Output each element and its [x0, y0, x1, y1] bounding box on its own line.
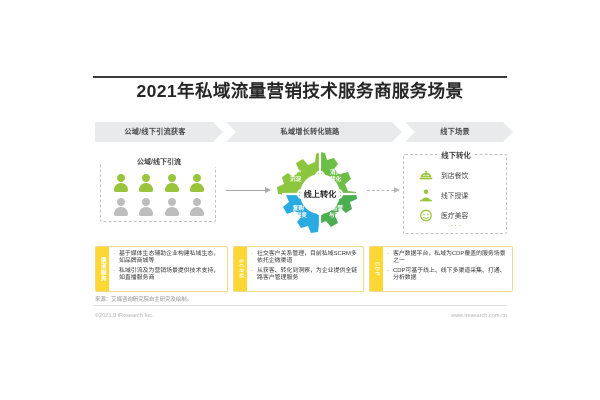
footer-divider: [93, 305, 507, 306]
person-icon: [190, 174, 205, 194]
list-item: · 客户数据平台，私域为CDP覆盖的服务场景之一: [387, 251, 509, 266]
list-item: · 从获客、转化到洞察，为企业提供全链路客户管理服务: [251, 268, 360, 283]
gear-q1-line1: 用户: [290, 170, 301, 176]
stage-header-1-label: 公域/线下引流获客: [124, 127, 193, 137]
people-grid: [108, 174, 210, 218]
list-item-label: 客户数据平台，私域为CDP覆盖的服务场景之一: [393, 251, 509, 266]
list-item: 线下授课: [418, 186, 500, 204]
source-note: 来源：艾媒咨询研究院自主研究及绘制。: [95, 295, 192, 303]
person-icon: [139, 198, 154, 218]
stage-header-1: 公域/线下引流获客: [95, 122, 223, 142]
arrow-right-icon: [226, 190, 270, 191]
title-divider: [93, 76, 507, 78]
gear-center-label: 线上转化: [304, 188, 337, 200]
gear-q1-line2: 沉淀: [290, 177, 301, 183]
gear-q3-line2: 与裂变: [290, 213, 307, 219]
stage-header-band: 公域/线下引流获客 私域增长转化链路 线下场景: [95, 122, 513, 142]
capability-block-cdp: CDP · 客户数据平台，私域为CDP覆盖的服务场景之一 · CDP可基于线上、…: [369, 246, 513, 292]
person-icon: [164, 174, 179, 194]
person-icon: [113, 174, 128, 194]
stage-header-3-label: 线下场景: [440, 127, 478, 137]
person-icon: [164, 198, 179, 218]
capability-body: · 客户数据平台，私域为CDP覆盖的服务场景之一 · CDP可基于线上、线下多渠…: [383, 247, 512, 291]
person-icon: [113, 198, 128, 218]
list-item-label: CDP可基于线上、线下多渠道采集、打通、分析数据: [393, 268, 509, 283]
main-diagram-band: 公域/线下引流: [95, 150, 513, 238]
gear-quadrant-label-bottom-right: 运营 与洞察: [329, 206, 346, 220]
list-item-label: 基于媒体生态辅助企业构建私域生态，如品牌商城等: [119, 251, 224, 266]
list-item: · 社交客户关系管理，目前私域SCRM多依托企微渠道: [251, 251, 360, 266]
list-item-label: 私域引流及为营销场景提供技术支持，如直播服务商: [119, 268, 224, 283]
offline-more-indicator: ···: [404, 221, 508, 230]
gear-q4-line2: 与洞察: [329, 213, 346, 219]
acquisition-title-label: 公域/线下引流: [133, 159, 185, 166]
list-item-label: 社交客户关系管理，目前私域SCRM多依托企微渠道: [257, 251, 360, 266]
capability-body: · 社交客户关系管理，目前私域SCRM多依托企微渠道 · 从获客、转化到洞察，为…: [247, 247, 363, 291]
list-item: · 基于媒体生态辅助企业构建私域生态，如品牌商城等: [113, 251, 224, 266]
list-item: 到店餐饮: [418, 166, 500, 184]
page-title: 2021年私域流量营销技术服务商服务场景: [93, 80, 507, 102]
restaurant-icon: [418, 168, 434, 183]
capability-block-scrm: SCRM · 社交客户关系管理，目前私域SCRM多依托企微渠道 · 从获客、转化…: [233, 246, 364, 292]
acquisition-title: 公域/线下引流: [101, 157, 217, 167]
gear-quadrant-label-bottom-left: 复购 与裂变: [290, 206, 307, 220]
person-icon: [139, 174, 154, 194]
capability-tab-label: SCRM: [234, 247, 247, 291]
offline-conversion-title-label: 线下转化: [437, 151, 475, 160]
stage-header-3: 线下场景: [405, 122, 513, 142]
capability-block-channel: 渠道服务 · 基于媒体生态辅助企业构建私域生态，如品牌商城等 · 私域引流及为营…: [95, 246, 228, 292]
list-item-label: 线下授课: [441, 190, 468, 200]
gear-q3-line1: 复购: [293, 206, 304, 212]
gear-quadrant-label-top-right: 消费 转化: [330, 170, 341, 184]
gear-quadrant-label-top-left: 用户 沉淀: [290, 170, 301, 184]
stage-header-2: 私域增长转化链路: [226, 122, 402, 142]
offline-conversion-box: 线下转化 到店餐饮: [403, 154, 507, 234]
capability-body: · 基于媒体生态辅助企业构建私域生态，如品牌商城等 · 私域引流及为营销场景提供…: [109, 247, 227, 291]
capability-tab-label: CDP: [370, 247, 383, 291]
offline-item-list: 到店餐饮 线下授课: [418, 166, 500, 226]
stage-header-2-label: 私域增长转化链路: [280, 127, 347, 137]
capability-blocks: 渠道服务 · 基于媒体生态辅助企业构建私域生态，如品牌商城等 · 私域引流及为营…: [95, 246, 513, 292]
gear-q2-line2: 转化: [330, 177, 341, 183]
teaching-icon: [418, 188, 434, 203]
acquisition-box: 公域/线下引流: [100, 162, 216, 222]
offline-conversion-title: 线下转化: [404, 150, 508, 161]
copyright-text: ©2021.9 iResearch Inc.: [95, 313, 154, 319]
capability-tab-label: 渠道服务: [96, 247, 109, 291]
list-item-label: 到店餐饮: [441, 170, 468, 180]
list-item-label: 从获客、转化到洞察，为企业提供全链路客户管理服务: [257, 268, 360, 283]
list-item-label: 医疗美容: [441, 210, 468, 220]
gear-q4-line1: 运营: [332, 206, 343, 212]
arrow-right-dashed-icon: [367, 190, 399, 192]
person-icon: [190, 198, 205, 218]
list-item: · 私域引流及为营销场景提供技术支持，如直播服务商: [113, 268, 224, 283]
list-item: · CDP可基于线上、线下多渠道采集、打通、分析数据: [387, 268, 509, 283]
gear-q2-line1: 消费: [330, 170, 341, 176]
website-text: www.iresearch.com.cn: [451, 313, 507, 319]
gear-cluster: 用户 沉淀 消费 转化 复购 与裂变 运营 与洞察 线上转化: [272, 148, 368, 240]
infographic-slide: 2021年私域流量营销技术服务商服务场景 公域/线下引流获客 私域增长转化链路 …: [0, 0, 600, 400]
